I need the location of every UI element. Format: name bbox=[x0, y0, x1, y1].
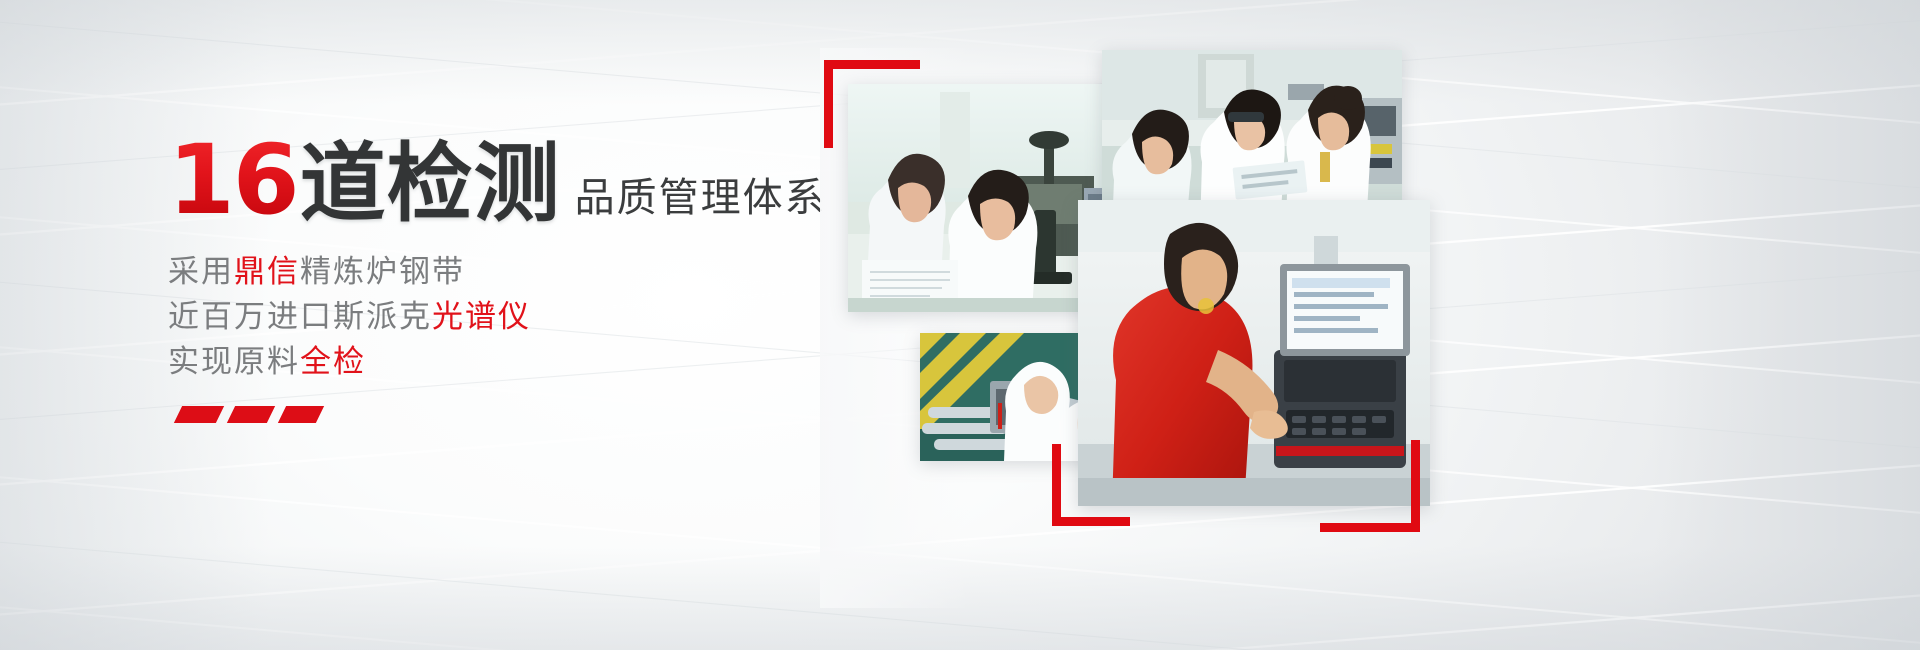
body-line-pre: 近百万进口斯派克 bbox=[168, 299, 432, 334]
body-line-highlight: 全检 bbox=[300, 344, 366, 379]
body-line-pre: 实现原料 bbox=[168, 344, 300, 379]
body-line-highlight: 鼎信 bbox=[234, 254, 300, 289]
photo-collage bbox=[820, 48, 1900, 608]
body-line-highlight: 光谱仪 bbox=[432, 299, 531, 334]
body-line: 实现原料全检 bbox=[168, 340, 928, 385]
slash-mark bbox=[278, 406, 324, 423]
body-line-pre: 采用 bbox=[168, 254, 234, 289]
headline-subtitle: 品质管理体系 bbox=[575, 178, 827, 218]
body-lines: 采用鼎信精炼炉钢带 近百万进口斯派克光谱仪 实现原料全检 bbox=[168, 250, 928, 385]
headline: 16 道检测 品质管理体系 bbox=[168, 132, 928, 224]
slash-mark bbox=[174, 406, 224, 423]
bracket-bottom-right bbox=[1320, 440, 1420, 532]
photo-microscope-inspection bbox=[848, 84, 1110, 312]
body-line-post: 精炼炉钢带 bbox=[300, 254, 465, 289]
slash-mark bbox=[227, 406, 275, 423]
bracket-bottom-left bbox=[1052, 444, 1130, 526]
body-line: 近百万进口斯派克光谱仪 bbox=[168, 295, 928, 340]
headline-number: 16 bbox=[168, 132, 298, 228]
copy-block: 16 道检测 品质管理体系 采用鼎信精炼炉钢带 近百万进口斯派克光谱仪 实现原料… bbox=[168, 132, 928, 385]
headline-main: 道检测 bbox=[300, 141, 561, 227]
promo-banner: 16 道检测 品质管理体系 采用鼎信精炼炉钢带 近百万进口斯派克光谱仪 实现原料… bbox=[0, 0, 1920, 650]
slash-decoration bbox=[178, 406, 320, 423]
body-line: 采用鼎信精炼炉钢带 bbox=[168, 250, 928, 295]
